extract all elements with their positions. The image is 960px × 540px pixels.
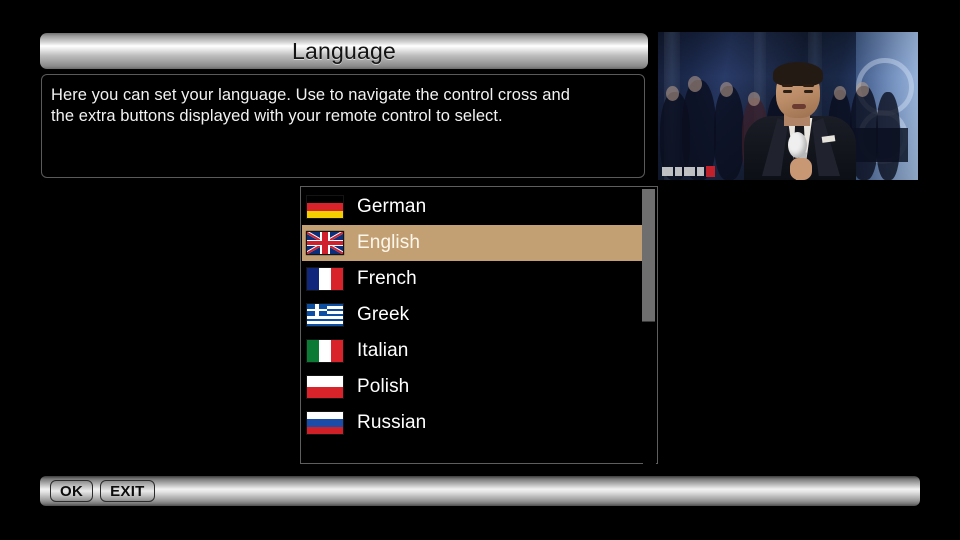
channel-watermark bbox=[662, 166, 715, 177]
flag-icon-gb bbox=[306, 231, 344, 255]
language-list-panel[interactable]: GermanEnglishFrenchGreekItalianPolishRus… bbox=[300, 186, 658, 464]
flag-icon-fr bbox=[306, 267, 344, 291]
crowd-head bbox=[748, 92, 760, 106]
flag-icon-ru bbox=[306, 411, 344, 435]
crowd-head bbox=[856, 82, 869, 97]
language-item-label: German bbox=[357, 196, 426, 218]
description-text: Here you can set your language. Use to n… bbox=[51, 85, 634, 127]
language-item-french[interactable]: French bbox=[302, 261, 645, 297]
footer-bar: OK EXIT bbox=[40, 476, 920, 506]
crowd-figure bbox=[876, 92, 900, 180]
reporter-eyebrow bbox=[803, 84, 814, 87]
language-item-label: Greek bbox=[357, 304, 409, 326]
crowd-head bbox=[688, 76, 702, 92]
flag-icon-pl bbox=[306, 375, 344, 399]
language-item-label: French bbox=[357, 268, 417, 290]
video-preview[interactable] bbox=[658, 32, 918, 180]
flag-icon-de bbox=[306, 195, 344, 219]
language-item-english[interactable]: English bbox=[302, 225, 645, 261]
screen-title-bar: Language bbox=[40, 33, 648, 69]
watermark-block bbox=[662, 167, 673, 176]
watermark-block bbox=[675, 167, 682, 176]
reporter-eye bbox=[783, 90, 792, 93]
language-item-german[interactable]: German bbox=[302, 189, 645, 225]
language-item-polish[interactable]: Polish bbox=[302, 369, 645, 405]
crowd-head bbox=[720, 82, 733, 97]
ok-button[interactable]: OK bbox=[50, 480, 93, 502]
reporter-eye bbox=[804, 90, 813, 93]
watermark-block bbox=[697, 167, 704, 176]
reporter-eyebrow bbox=[782, 84, 793, 87]
reporter-hand bbox=[790, 158, 812, 180]
page-title: Language bbox=[292, 38, 396, 65]
microphone-icon bbox=[788, 132, 807, 158]
crowd-head bbox=[834, 86, 846, 100]
crowd-head bbox=[666, 86, 679, 101]
language-item-label: Polish bbox=[357, 376, 409, 398]
crowd-figure bbox=[682, 80, 716, 180]
reporter-mouth bbox=[792, 104, 806, 109]
watermark-logo-mark bbox=[706, 166, 715, 177]
language-item-label: Italian bbox=[357, 340, 408, 362]
language-list[interactable]: GermanEnglishFrenchGreekItalianPolishRus… bbox=[302, 189, 645, 441]
language-item-russian[interactable]: Russian bbox=[302, 405, 645, 441]
watermark-block bbox=[684, 167, 695, 176]
crowd-figure bbox=[714, 86, 744, 180]
language-item-greek[interactable]: Greek bbox=[302, 297, 645, 333]
description-box: Here you can set your language. Use to n… bbox=[41, 74, 645, 178]
scrollbar-track[interactable] bbox=[643, 188, 656, 464]
flag-icon-gr bbox=[306, 303, 344, 327]
scrollbar-thumb[interactable] bbox=[642, 189, 655, 322]
exit-button[interactable]: EXIT bbox=[100, 480, 155, 502]
flag-icon-it bbox=[306, 339, 344, 363]
reporter-hair bbox=[773, 62, 823, 86]
language-item-label: Russian bbox=[357, 412, 426, 434]
language-item-italian[interactable]: Italian bbox=[302, 333, 645, 369]
language-item-label: English bbox=[357, 232, 420, 254]
